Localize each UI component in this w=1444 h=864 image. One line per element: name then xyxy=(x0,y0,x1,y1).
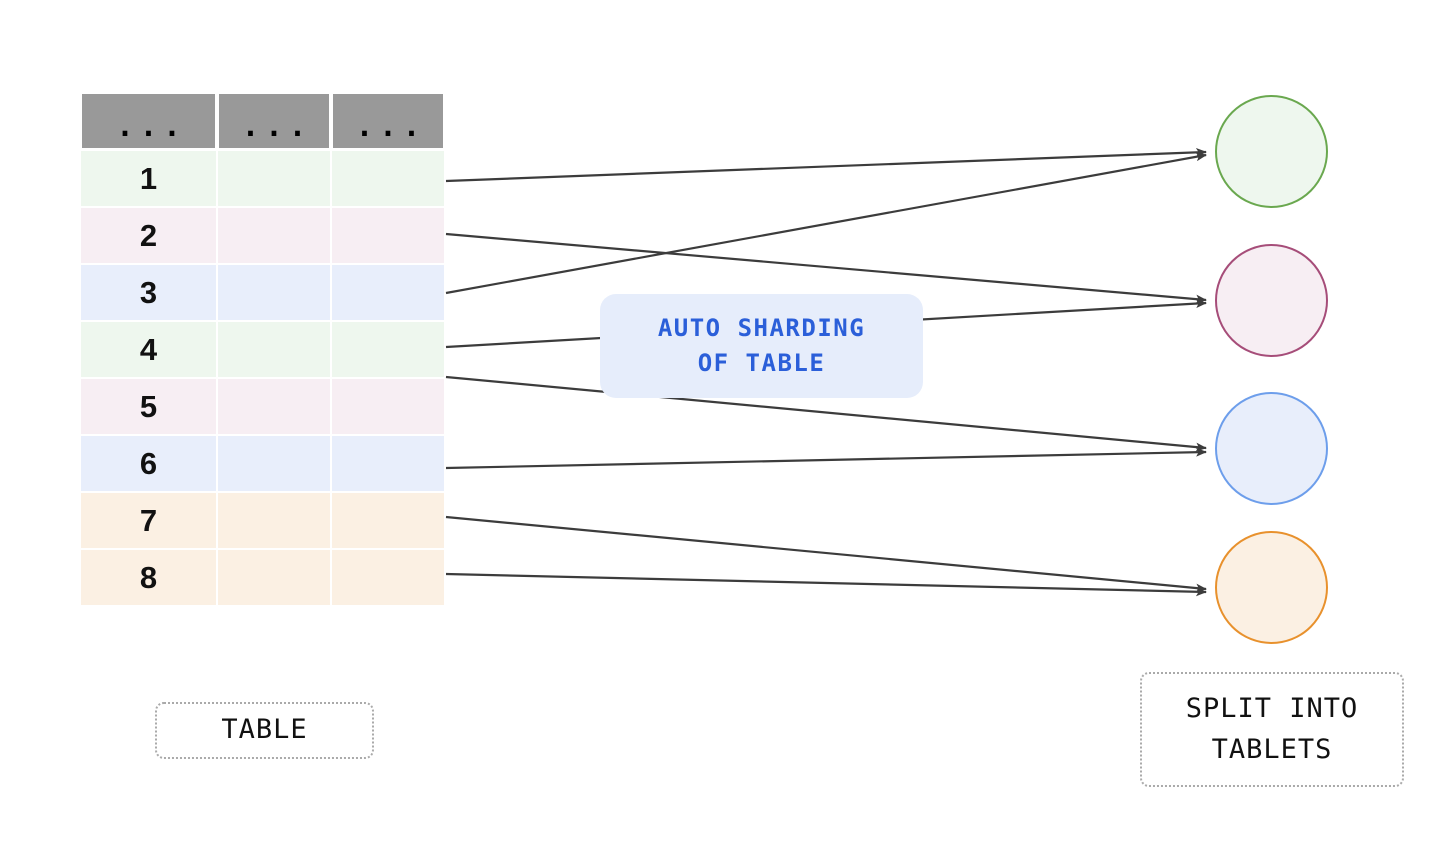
connector-row-8 xyxy=(446,574,1206,592)
table-cell-num: 8 xyxy=(80,549,217,606)
tablet-pink xyxy=(1215,244,1328,357)
table-cell-num: 3 xyxy=(80,264,217,321)
table-cell-blank xyxy=(331,378,445,435)
table-cell-blank xyxy=(331,150,445,207)
caption-tablets-line1: SPLIT INTO xyxy=(1186,689,1359,730)
table-cell-num: 4 xyxy=(80,321,217,378)
table-row: 8 xyxy=(80,549,445,606)
caption-table-line1: TABLE xyxy=(221,710,307,751)
row-number: 2 xyxy=(140,220,157,251)
connector-row-2 xyxy=(446,234,1206,300)
table-cell-blank xyxy=(331,492,445,549)
table-header-cell-3: ... xyxy=(331,92,445,150)
table-cell-num: 6 xyxy=(80,435,217,492)
row-number: 3 xyxy=(140,277,157,308)
table-cell-blank xyxy=(217,264,331,321)
table-cell-blank xyxy=(331,321,445,378)
row-number: 5 xyxy=(140,391,157,422)
tablet-blue xyxy=(1215,392,1328,505)
header-dots-1: ... xyxy=(110,112,186,141)
auto-sharding-label: AUTO SHARDING OF TABLE xyxy=(600,294,923,398)
caption-tablets-line2: TABLETS xyxy=(1212,730,1333,771)
table-cell-blank xyxy=(217,378,331,435)
source-table: ... ... ... 1 2 3 xyxy=(80,92,445,606)
table-cell-blank xyxy=(331,435,445,492)
table-cell-blank xyxy=(331,549,445,606)
auto-sharding-label-line2: OF TABLE xyxy=(698,346,826,381)
connector-row-7 xyxy=(446,517,1206,589)
caption-tablets: SPLIT INTO TABLETS xyxy=(1140,672,1404,787)
table-row: 1 xyxy=(80,150,445,207)
table-cell-blank xyxy=(217,150,331,207)
connector-row-3 xyxy=(446,155,1206,293)
table-row: 5 xyxy=(80,378,445,435)
table-cell-blank xyxy=(217,492,331,549)
table-cell-num: 1 xyxy=(80,150,217,207)
row-number: 1 xyxy=(140,163,157,194)
table-cell-blank xyxy=(331,207,445,264)
connector-row-6 xyxy=(446,452,1206,468)
diagram-canvas: ... ... ... 1 2 3 xyxy=(0,0,1444,864)
row-number: 6 xyxy=(140,448,157,479)
table-cell-blank xyxy=(217,435,331,492)
table-cell-blank xyxy=(331,264,445,321)
header-dots-3: ... xyxy=(350,112,426,141)
auto-sharding-label-line1: AUTO SHARDING xyxy=(658,311,865,346)
table-header-cell-2: ... xyxy=(217,92,331,150)
header-dots-2: ... xyxy=(236,112,312,141)
table-cell-num: 5 xyxy=(80,378,217,435)
table-cell-blank xyxy=(217,207,331,264)
table-header-cell-1: ... xyxy=(80,92,217,150)
row-number: 4 xyxy=(140,334,157,365)
tablet-orange xyxy=(1215,531,1328,644)
table-row: 4 xyxy=(80,321,445,378)
table-row: 2 xyxy=(80,207,445,264)
connector-row-1 xyxy=(446,152,1206,181)
row-number: 7 xyxy=(140,505,157,536)
table-cell-blank xyxy=(217,321,331,378)
caption-table: TABLE xyxy=(155,702,374,759)
table-cell-num: 2 xyxy=(80,207,217,264)
tablet-green xyxy=(1215,95,1328,208)
table-cell-blank xyxy=(217,549,331,606)
row-number: 8 xyxy=(140,562,157,593)
table-row: 6 xyxy=(80,435,445,492)
table-header-row: ... ... ... xyxy=(80,92,445,150)
table-row: 3 xyxy=(80,264,445,321)
table-cell-num: 7 xyxy=(80,492,217,549)
table-row: 7 xyxy=(80,492,445,549)
